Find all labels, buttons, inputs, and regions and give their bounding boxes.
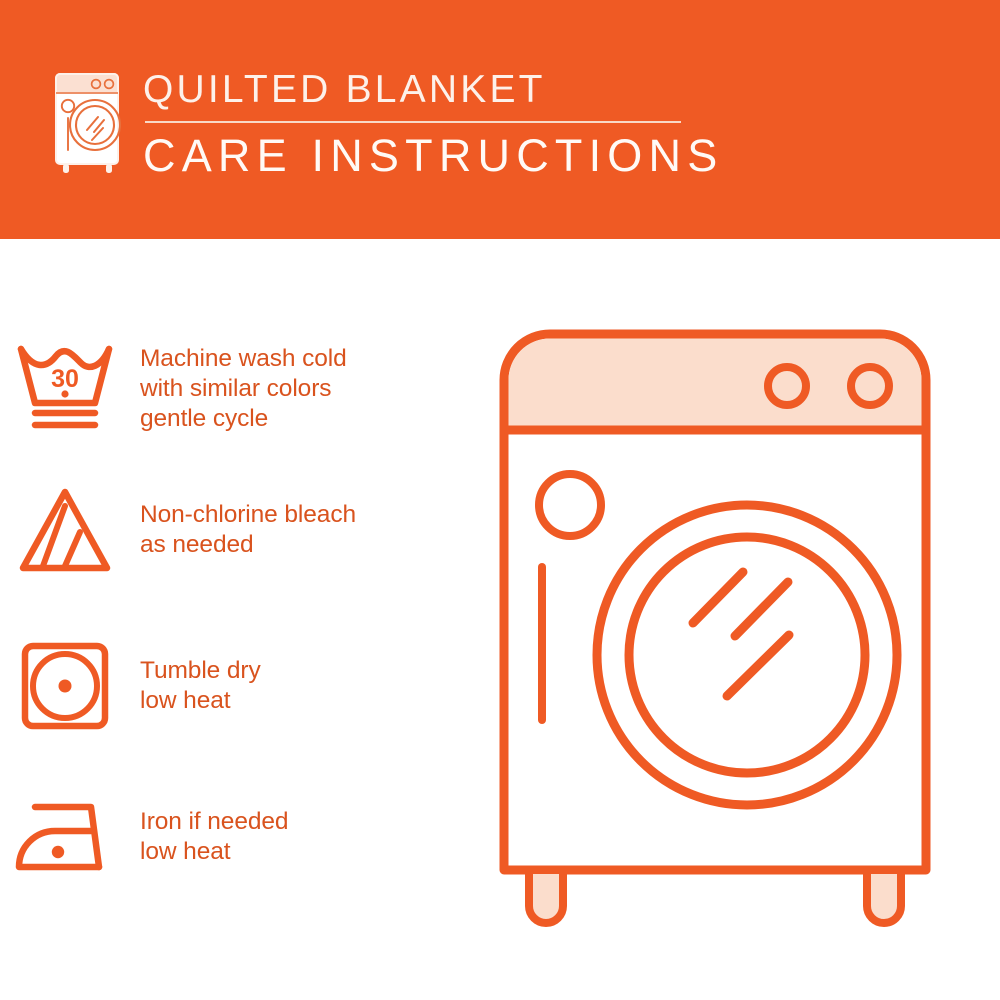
care-instruction-item: 30 Machine wash cold with similar colors… [0, 330, 490, 448]
care-instruction-text: Non-chlorine bleach as needed [130, 500, 356, 560]
title-divider [145, 121, 681, 123]
wash-tub-30-gentle-icon: 30 [0, 330, 130, 448]
care-instruction-text: Machine wash cold with similar colors ge… [130, 344, 347, 434]
leg-right [867, 870, 901, 923]
washing-machine-icon [44, 66, 128, 178]
care-instructions-infographic: QUILTED BLANKET CARE INSTRUCTIONS 30 [0, 0, 1000, 1000]
care-instruction-item: Tumble dry low heat [0, 627, 490, 745]
page-title-secondary: CARE INSTRUCTIONS [143, 131, 843, 181]
care-instruction-item: Non-chlorine bleach as needed [0, 471, 490, 589]
non-chlorine-bleach-triangle-icon [0, 471, 130, 589]
care-instruction-item: Iron if needed low heat [0, 778, 490, 896]
wash-temperature-label: 30 [51, 365, 79, 393]
iron-low-heat-icon [0, 778, 130, 896]
tumble-dry-low-heat-icon [0, 627, 130, 745]
care-instruction-text: Iron if needed low heat [130, 807, 288, 867]
header-title-block: QUILTED BLANKET CARE INSTRUCTIONS [143, 68, 843, 181]
leg-left [529, 870, 563, 923]
header-band: QUILTED BLANKET CARE INSTRUCTIONS [0, 0, 1000, 239]
washing-machine-illustration [490, 320, 980, 940]
page-title-primary: QUILTED BLANKET [143, 68, 843, 112]
care-instruction-list: 30 Machine wash cold with similar colors… [0, 239, 490, 1000]
care-instruction-text: Tumble dry low heat [130, 656, 261, 716]
control-panel [504, 339, 926, 431]
